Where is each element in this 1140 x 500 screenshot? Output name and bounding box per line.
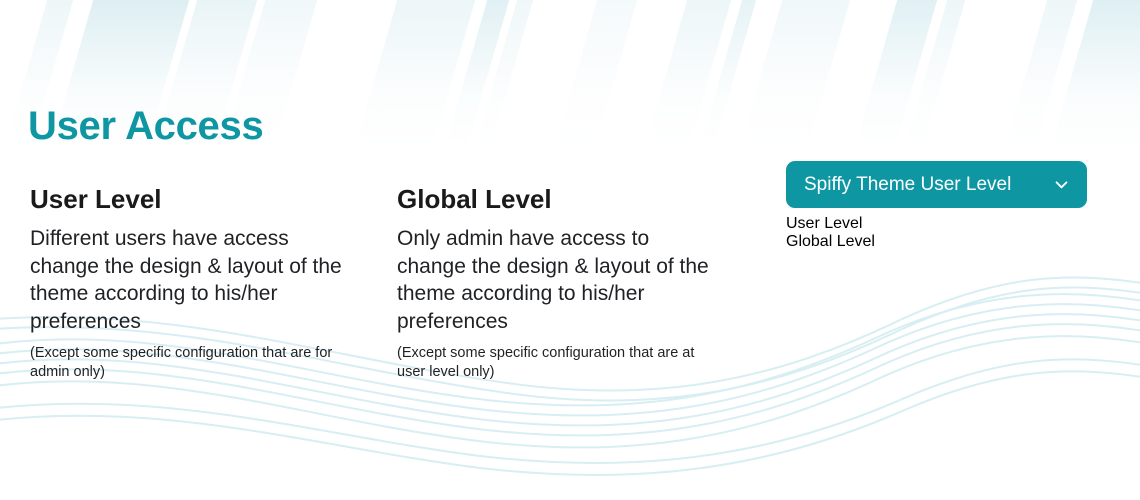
dropdown-option-user-level[interactable]: User Level	[786, 215, 1087, 233]
dropdown-selected-label: Spiffy Theme User Level	[804, 175, 1011, 194]
chevron-down-icon	[1053, 176, 1070, 193]
column-global-level: Global Level Only admin have access to c…	[397, 185, 737, 383]
dropdown-menu: User Level Global Level	[786, 215, 1087, 251]
column-note-text: (Except some specific configuration that…	[30, 344, 355, 382]
column-user-level: User Level Different users have access c…	[30, 185, 370, 383]
dropdown-toggle-button[interactable]: Spiffy Theme User Level	[786, 161, 1087, 208]
column-note-text: (Except some specific configuration that…	[397, 344, 722, 382]
column-heading: User Level	[30, 185, 370, 214]
column-body-text: Only admin have access to change the des…	[397, 225, 717, 337]
slide-canvas: User Access User Level Different users h…	[0, 0, 1140, 500]
diagonal-stripes-decoration	[0, 0, 1140, 120]
page-title: User Access	[28, 106, 263, 146]
column-body-text: Different users have access change the d…	[30, 225, 350, 337]
user-level-dropdown: Spiffy Theme User Level User Level Globa…	[786, 161, 1087, 251]
dropdown-option-global-level[interactable]: Global Level	[786, 233, 1087, 251]
column-heading: Global Level	[397, 185, 737, 214]
